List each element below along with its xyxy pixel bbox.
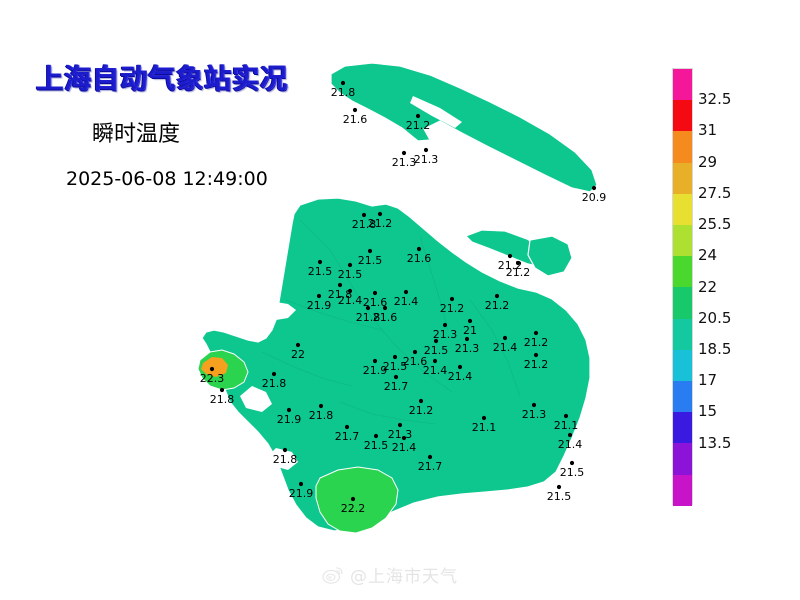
station-temperature-label: 21.4 bbox=[493, 341, 518, 354]
station-temperature-label: 21.4 bbox=[423, 364, 448, 377]
station-temperature-label: 21.7 bbox=[335, 430, 360, 443]
station-dot bbox=[503, 336, 507, 340]
station-dot bbox=[534, 353, 538, 357]
station-dot bbox=[317, 294, 321, 298]
station-dot bbox=[433, 359, 437, 363]
colorbar-band bbox=[673, 443, 692, 474]
station-dot bbox=[341, 81, 345, 85]
station-temperature-label: 21.3 bbox=[392, 156, 417, 169]
station-dot bbox=[362, 213, 366, 217]
weather-station[interactable]: 21.5 bbox=[547, 485, 572, 503]
station-dot bbox=[210, 367, 214, 371]
warm-patch-south bbox=[316, 467, 398, 533]
station-temperature-label: 21.8 bbox=[210, 393, 235, 406]
station-dot bbox=[532, 403, 536, 407]
station-temperature-label: 21.3 bbox=[522, 408, 547, 421]
station-temperature-label: 21.2 bbox=[506, 266, 531, 279]
weather-map-page: 上海自动气象站实况 瞬时温度 2025-06-08 12:49:00 bbox=[0, 0, 800, 600]
station-dot bbox=[351, 497, 355, 501]
station-temperature-label: 21.4 bbox=[448, 370, 473, 383]
station-dot bbox=[398, 423, 402, 427]
station-temperature-label: 21.2 bbox=[485, 299, 510, 312]
colorbar-bands bbox=[672, 68, 693, 505]
station-dot bbox=[296, 343, 300, 347]
station-dot bbox=[482, 416, 486, 420]
weather-station[interactable]: 21.3 bbox=[414, 148, 439, 166]
station-dot bbox=[516, 261, 520, 265]
station-temperature-label: 21 bbox=[463, 324, 477, 337]
colorbar-tick: 20.5 bbox=[698, 309, 731, 327]
station-temperature-label: 21.3 bbox=[414, 153, 439, 166]
station-temperature-label: 21.5 bbox=[308, 265, 333, 278]
station-dot bbox=[394, 375, 398, 379]
watermark-text: @上海市天气 bbox=[350, 562, 458, 587]
station-dot bbox=[557, 485, 561, 489]
station-temperature-label: 21.5 bbox=[424, 344, 449, 357]
station-dot bbox=[283, 448, 287, 452]
colorbar-band bbox=[673, 131, 692, 162]
station-dot bbox=[338, 283, 342, 287]
station-dot bbox=[416, 114, 420, 118]
station-temperature-label: 21.5 bbox=[560, 466, 585, 479]
station-temperature-label: 22 bbox=[291, 348, 305, 361]
station-temperature-label: 21.3 bbox=[455, 342, 480, 355]
station-dot bbox=[383, 306, 387, 310]
station-temperature-label: 21.8 bbox=[309, 409, 334, 422]
colorbar-band bbox=[673, 287, 692, 318]
station-dot bbox=[299, 482, 303, 486]
weather-station[interactable]: 21.6 bbox=[343, 108, 368, 126]
station-temperature-label: 21.6 bbox=[373, 311, 398, 324]
station-temperature-label: 21.9 bbox=[277, 413, 302, 426]
colorbar-tick: 24 bbox=[698, 246, 717, 264]
hengsha-island-shape bbox=[528, 236, 572, 276]
station-dot bbox=[345, 425, 349, 429]
station-temperature-label: 21.8 bbox=[331, 86, 356, 99]
station-dot bbox=[393, 355, 397, 359]
station-dot bbox=[468, 319, 472, 323]
colorbar-band bbox=[673, 69, 692, 100]
station-dot bbox=[508, 254, 512, 258]
station-temperature-label: 21.2 bbox=[524, 336, 549, 349]
station-temperature-label: 21.5 bbox=[338, 268, 363, 281]
station-temperature-label: 21.4 bbox=[558, 438, 583, 451]
station-dot bbox=[319, 404, 323, 408]
station-dot bbox=[272, 372, 276, 376]
weather-station[interactable]: 21.3 bbox=[392, 151, 417, 169]
station-dot bbox=[348, 263, 352, 267]
station-dot bbox=[570, 461, 574, 465]
station-dot bbox=[443, 323, 447, 327]
weibo-logo-icon bbox=[322, 565, 344, 585]
colorbar-band bbox=[673, 100, 692, 131]
colorbar-tick: 31 bbox=[698, 121, 717, 139]
colorbar-band bbox=[673, 163, 692, 194]
temperature-colorbar[interactable]: 32.5312927.525.5242220.518.5171513.5 bbox=[672, 68, 792, 508]
station-dot bbox=[458, 365, 462, 369]
station-temperature-label: 21.7 bbox=[418, 460, 443, 473]
station-temperature-label: 21.2 bbox=[409, 404, 434, 417]
station-dot bbox=[373, 291, 377, 295]
temperature-map[interactable]: 21.821.621.221.321.320.921.821.221.521.6… bbox=[0, 0, 660, 600]
station-dot bbox=[465, 337, 469, 341]
station-temperature-label: 21.7 bbox=[384, 380, 409, 393]
station-dot bbox=[404, 290, 408, 294]
station-dot bbox=[564, 414, 568, 418]
station-dot bbox=[419, 399, 423, 403]
colorbar-tick: 32.5 bbox=[698, 90, 731, 108]
station-dot bbox=[434, 339, 438, 343]
colorbar-tick: 27.5 bbox=[698, 184, 731, 202]
station-dot bbox=[534, 331, 538, 335]
station-dot bbox=[417, 247, 421, 251]
station-temperature-label: 21.4 bbox=[338, 294, 363, 307]
station-dot bbox=[413, 350, 417, 354]
chongming-island-shape bbox=[331, 63, 597, 192]
colorbar-tick: 29 bbox=[698, 153, 717, 171]
station-dot bbox=[592, 186, 596, 190]
colorbar-tick: 22 bbox=[698, 278, 717, 296]
station-temperature-label: 21.9 bbox=[307, 299, 332, 312]
station-temperature-label: 21.2 bbox=[440, 302, 465, 315]
station-temperature-label: 21.2 bbox=[406, 119, 431, 132]
station-dot bbox=[348, 289, 352, 293]
station-temperature-label: 21.6 bbox=[407, 252, 432, 265]
station-dot bbox=[368, 249, 372, 253]
station-dot bbox=[424, 148, 428, 152]
station-dot bbox=[495, 294, 499, 298]
station-dot bbox=[374, 434, 378, 438]
weather-station[interactable]: 21.5 bbox=[560, 461, 585, 479]
station-dot bbox=[373, 359, 377, 363]
station-temperature-label: 20.9 bbox=[582, 191, 607, 204]
station-dot bbox=[366, 306, 370, 310]
station-dot bbox=[287, 408, 291, 412]
colorbar-tick: 13.5 bbox=[698, 434, 731, 452]
station-dot bbox=[402, 436, 406, 440]
colorbar-tick: 25.5 bbox=[698, 215, 731, 233]
station-temperature-label: 21.5 bbox=[358, 254, 383, 267]
station-dot bbox=[220, 388, 224, 392]
station-temperature-label: 21.2 bbox=[524, 358, 549, 371]
watermark: @上海市天气 bbox=[322, 562, 458, 587]
colorbar-tick: 18.5 bbox=[698, 340, 731, 358]
station-temperature-label: 21.8 bbox=[273, 453, 298, 466]
station-temperature-label: 21.2 bbox=[368, 217, 393, 230]
colorbar-band bbox=[673, 475, 692, 506]
station-temperature-label: 21.5 bbox=[547, 490, 572, 503]
station-dot bbox=[568, 433, 572, 437]
station-temperature-label: 21.6 bbox=[343, 113, 368, 126]
station-temperature-label: 22.2 bbox=[341, 502, 366, 515]
colorbar-band bbox=[673, 319, 692, 350]
station-temperature-label: 21.4 bbox=[392, 441, 417, 454]
station-dot bbox=[318, 260, 322, 264]
station-dot bbox=[353, 108, 357, 112]
station-dot bbox=[428, 455, 432, 459]
colorbar-band bbox=[673, 225, 692, 256]
station-temperature-label: 21.9 bbox=[289, 487, 314, 500]
station-temperature-label: 21.8 bbox=[262, 377, 287, 390]
station-dot bbox=[378, 212, 382, 216]
station-temperature-label: 21.3 bbox=[388, 428, 413, 441]
colorbar-band bbox=[673, 256, 692, 287]
station-dot bbox=[402, 151, 406, 155]
station-temperature-label: 21.5 bbox=[364, 439, 389, 452]
station-temperature-label: 22.3 bbox=[200, 372, 225, 385]
station-temperature-label: 21.4 bbox=[394, 295, 419, 308]
colorbar-band bbox=[673, 350, 692, 381]
station-temperature-label: 21.1 bbox=[554, 419, 579, 432]
station-dot bbox=[450, 297, 454, 301]
station-temperature-label: 21.1 bbox=[472, 421, 497, 434]
colorbar-band bbox=[673, 381, 692, 412]
colorbar-tick: 17 bbox=[698, 371, 717, 389]
colorbar-band bbox=[673, 412, 692, 443]
colorbar-band bbox=[673, 194, 692, 225]
colorbar-tick: 15 bbox=[698, 402, 717, 420]
